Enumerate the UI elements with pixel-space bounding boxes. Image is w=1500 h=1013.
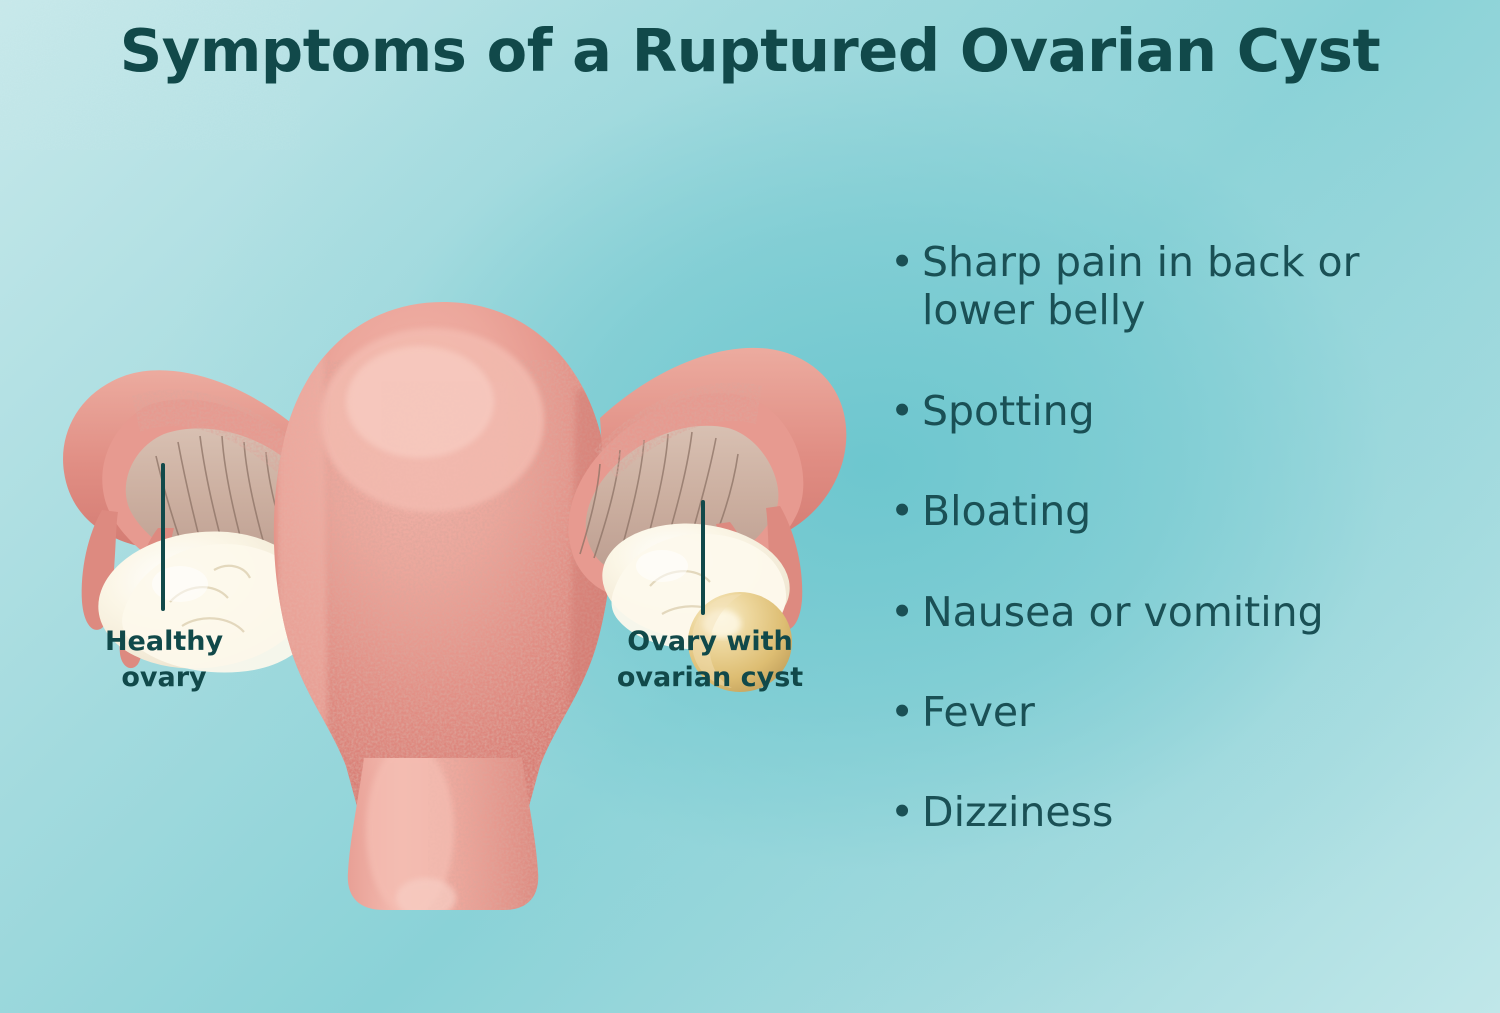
bullet-icon: •	[890, 487, 922, 535]
bullet-icon: •	[890, 588, 922, 636]
symptom-text: Sharp pain in back or lower belly	[922, 238, 1422, 335]
uterus-body	[274, 302, 624, 820]
symptom-item: • Fever	[890, 688, 1460, 736]
symptom-text: Nausea or vomiting	[922, 588, 1422, 636]
symptom-text: Dizziness	[922, 788, 1422, 836]
bullet-icon: •	[890, 387, 922, 435]
callout-label-healthy-ovary: Healthy ovary	[48, 624, 280, 697]
symptom-text: Bloating	[922, 487, 1422, 535]
leader-line-healthy-ovary	[161, 463, 165, 611]
bullet-icon: •	[890, 688, 922, 736]
infographic-canvas: Symptoms of a Ruptured Ovarian Cyst	[0, 0, 1500, 1013]
bullet-icon: •	[890, 788, 922, 836]
symptom-item: • Dizziness	[890, 788, 1460, 836]
leader-line-ovary-with-cyst	[701, 500, 705, 615]
uterus-ovaries-illustration	[28, 210, 888, 910]
symptom-item: • Bloating	[890, 487, 1460, 535]
cervix-and-vagina	[348, 744, 548, 910]
bullet-icon: •	[890, 238, 922, 286]
symptom-list: • Sharp pain in back or lower belly • Sp…	[890, 238, 1460, 837]
symptom-text: Fever	[922, 688, 1422, 736]
symptom-item: • Sharp pain in back or lower belly	[890, 238, 1460, 335]
symptom-text: Spotting	[922, 387, 1422, 435]
page-title: Symptoms of a Ruptured Ovarian Cyst	[0, 16, 1500, 85]
callout-label-ovary-with-cyst: Ovary with ovarian cyst	[560, 624, 860, 697]
symptom-item: • Nausea or vomiting	[890, 588, 1460, 636]
symptom-item: • Spotting	[890, 387, 1460, 435]
